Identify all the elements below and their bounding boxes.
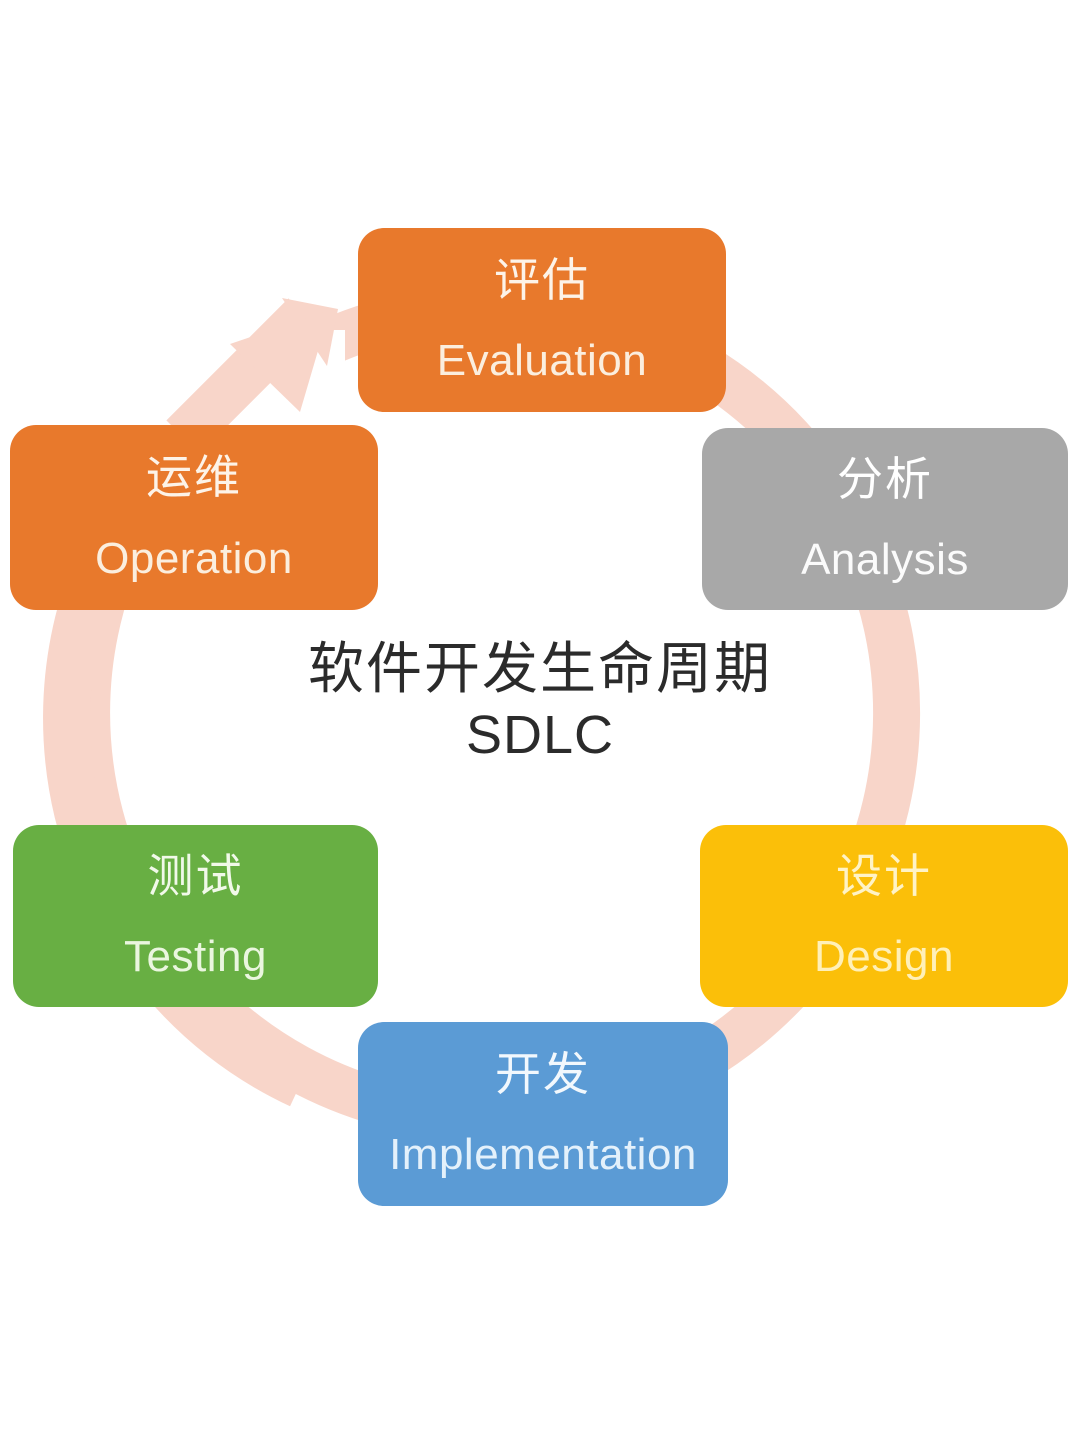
stage-box-testing[interactable]: 测试 Testing	[13, 825, 378, 1007]
stage-label-zh-analysis: 分析	[837, 455, 933, 503]
stage-label-zh-testing: 测试	[148, 852, 244, 900]
center-title-zh: 软件开发生命周期	[240, 636, 840, 702]
stage-label-zh-operation: 运维	[146, 453, 242, 501]
stage-label-en-evaluation: Evaluation	[437, 338, 647, 384]
stage-label-zh-evaluation: 评估	[494, 256, 590, 304]
stage-box-analysis[interactable]: 分析 Analysis	[702, 428, 1068, 610]
center-title-en: SDLC	[240, 704, 840, 768]
diagram-center-title: 软件开发生命周期 SDLC	[240, 636, 840, 768]
stage-box-design[interactable]: 设计 Design	[700, 825, 1068, 1007]
stage-label-en-design: Design	[814, 934, 954, 980]
stage-box-evaluation[interactable]: 评估 Evaluation	[358, 228, 726, 412]
stage-label-en-testing: Testing	[124, 934, 267, 980]
stage-label-en-analysis: Analysis	[801, 537, 969, 583]
stage-label-en-operation: Operation	[95, 536, 293, 582]
stage-label-zh-implementation: 开发	[495, 1050, 591, 1098]
stage-label-en-implementation: Implementation	[389, 1132, 697, 1178]
stage-box-implementation[interactable]: 开发 Implementation	[358, 1022, 728, 1206]
sdlc-cycle-diagram: 评估 Evaluation 分析 Analysis 设计 Design 开发 I…	[0, 0, 1080, 1439]
stage-label-zh-design: 设计	[836, 852, 932, 900]
stage-box-operation[interactable]: 运维 Operation	[10, 425, 378, 610]
